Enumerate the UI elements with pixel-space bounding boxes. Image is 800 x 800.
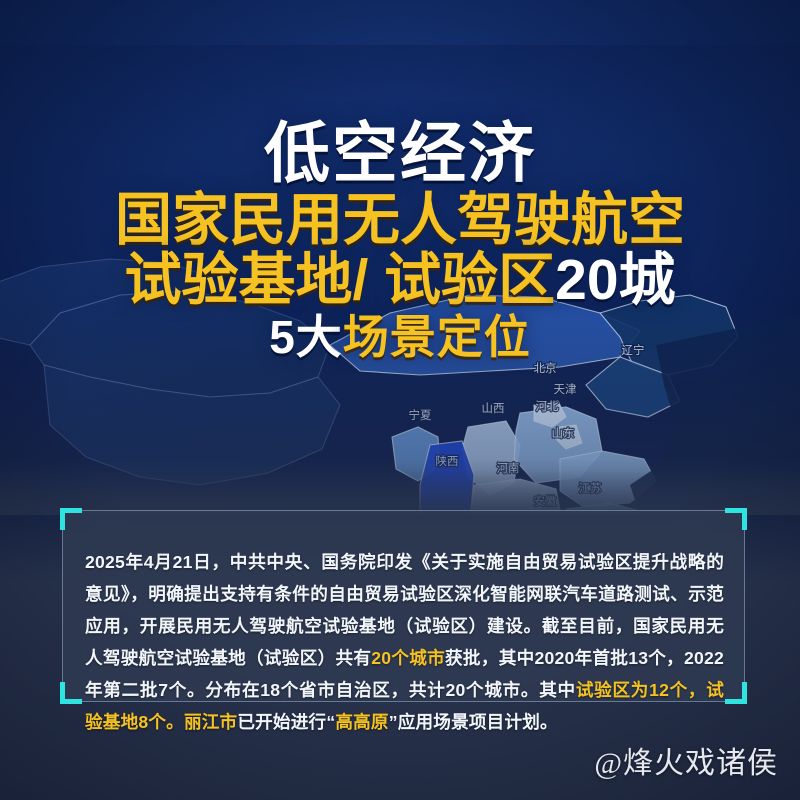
headline-line-1: 低空经济 <box>0 120 800 187</box>
body-panel: 2025年4月21日，中共中央、国务院印发《关于实施自由贸易试验区提升战略的意见… <box>62 510 745 702</box>
map-label-陕西: 陕西 <box>436 454 459 468</box>
corner-bracket-top-right-icon <box>725 508 747 530</box>
map-label-河北: 河北 <box>536 400 559 413</box>
map-label-山东: 山东 <box>552 427 575 440</box>
headline-line-4-white: 5大 <box>269 311 343 363</box>
headline-line-4-yellow: 场景定位 <box>343 311 531 363</box>
watermark: @烽火戏诸侯 <box>594 738 778 782</box>
map-label-山西: 山西 <box>482 402 505 415</box>
headline-line-3-white: 20城 <box>555 248 675 312</box>
map-label-北京: 北京 <box>534 361 557 375</box>
poster-root: 北京天津辽宁宁夏山西河北山东陕西河南江苏安徽 低空经济 国家民用无人驾驶航空 试… <box>0 0 800 800</box>
body-text-6: ”应用场景项目计划。 <box>389 712 558 732</box>
body-paragraph: 2025年4月21日，中共中央、国务院印发《关于实施自由贸易试验区提升战略的意见… <box>85 546 724 738</box>
corner-bracket-top-left-icon <box>60 508 82 530</box>
headline-line-2: 国家民用无人驾驶航空 <box>0 191 800 249</box>
body-highlight-1: 20个城市 <box>371 648 445 668</box>
headline-line-4: 5大场景定位 <box>0 314 800 361</box>
corner-bracket-bottom-right-icon <box>725 682 747 704</box>
headline-block: 低空经济 国家民用无人驾驶航空 试验基地/ 试验区20城 5大场景定位 <box>0 120 800 360</box>
map-label-天津: 天津 <box>554 383 577 396</box>
headline-line-3-yellow: 试验基地/ 试验区 <box>124 248 555 312</box>
headline-line-3: 试验基地/ 试验区20城 <box>0 251 800 309</box>
body-highlight-5: 高高原 <box>335 712 388 732</box>
body-text-4: 已开始进行“ <box>237 712 335 732</box>
corner-bracket-bottom-left-icon <box>60 682 82 704</box>
map-label-宁夏: 宁夏 <box>409 408 432 422</box>
